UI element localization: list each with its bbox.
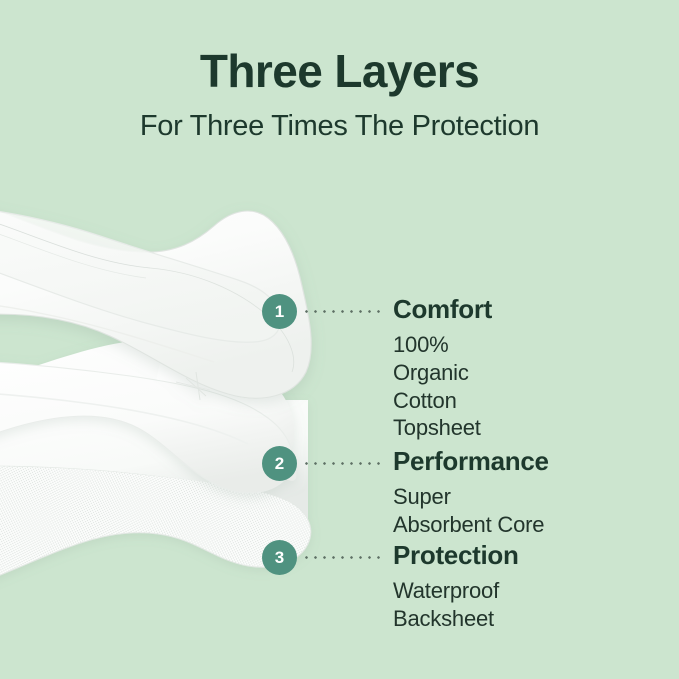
callout-text-2: Performance Super Absorbent Core bbox=[393, 447, 549, 539]
header-block: Three Layers For Three Times The Protect… bbox=[0, 0, 679, 141]
leader-line-3 bbox=[302, 556, 380, 559]
page-title: Three Layers bbox=[0, 0, 679, 95]
callout-text-1: Comfort 100% Organic Cotton Topsheet bbox=[393, 295, 492, 442]
callout-heading-performance: Performance bbox=[393, 447, 549, 476]
three-layers-infographic: Three Layers For Three Times The Protect… bbox=[0, 0, 679, 679]
leader-line-1 bbox=[302, 310, 380, 313]
callout-badge-3: 3 bbox=[262, 540, 297, 575]
callout-heading-comfort: Comfort bbox=[393, 295, 492, 324]
callout-badge-1: 1 bbox=[262, 294, 297, 329]
callout-badge-2: 2 bbox=[262, 446, 297, 481]
callout-text-3: Protection Waterproof Backsheet bbox=[393, 541, 519, 633]
callout-description-comfort: 100% Organic Cotton Topsheet bbox=[393, 324, 492, 442]
callout-description-performance: Super Absorbent Core bbox=[393, 476, 549, 538]
page-subtitle: For Three Times The Protection bbox=[0, 95, 679, 141]
callout-heading-protection: Protection bbox=[393, 541, 519, 570]
callout-description-protection: Waterproof Backsheet bbox=[393, 570, 519, 632]
leader-line-2 bbox=[302, 462, 380, 465]
